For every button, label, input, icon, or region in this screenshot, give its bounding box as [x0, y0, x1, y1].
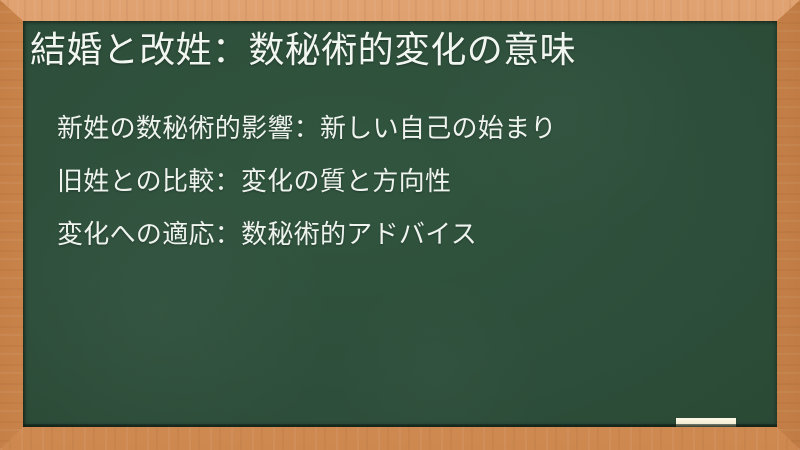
- bullet-list: 新姓の数秘術的影響：新しい自己の始まり 旧姓との比較：変化の質と方向性 変化への…: [57, 103, 757, 262]
- slide-content: 結婚と改姓：数秘術的変化の意味 新姓の数秘術的影響：新しい自己の始まり 旧姓との…: [23, 21, 777, 427]
- bullet-item-2: 旧姓との比較：変化の質と方向性: [57, 156, 757, 209]
- board-bottom-lip: [23, 424, 777, 427]
- bullet-item-1: 新姓の数秘術的影響：新しい自己の始まり: [57, 103, 757, 156]
- bullet-item-3: 変化への適応：数秘術的アドバイス: [57, 209, 757, 262]
- slide-title: 結婚と改姓：数秘術的変化の意味: [30, 28, 760, 74]
- chalkboard-slide: 結婚と改姓：数秘術的変化の意味 新姓の数秘術的影響：新しい自己の始まり 旧姓との…: [0, 0, 800, 450]
- chalkboard-surface: 結婚と改姓：数秘術的変化の意味 新姓の数秘術的影響：新しい自己の始まり 旧姓との…: [23, 21, 777, 427]
